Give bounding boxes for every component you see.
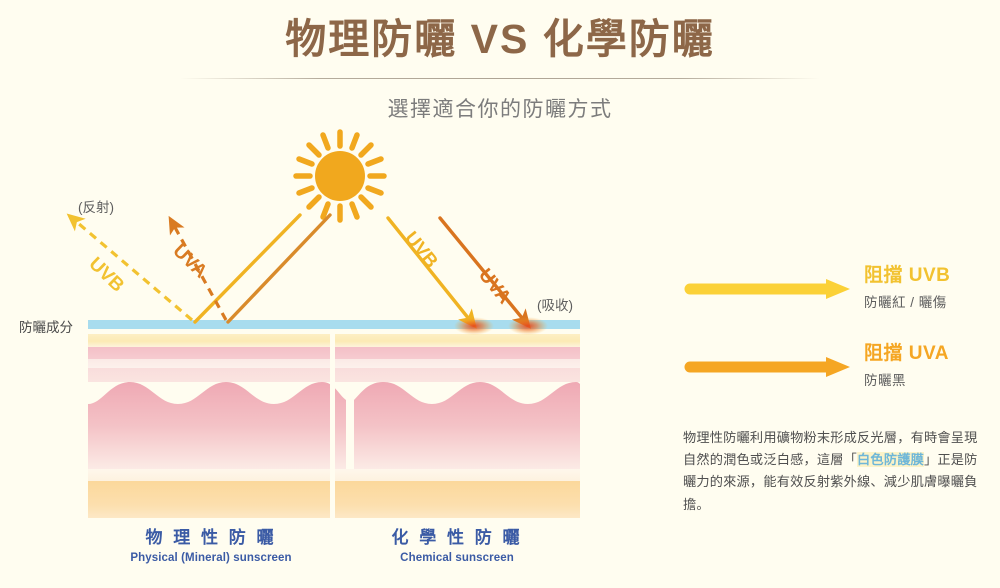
sun-icon — [288, 124, 392, 228]
legend-arrow-uvb — [684, 278, 852, 300]
ray-label-uva-left: UVA — [169, 240, 212, 282]
legend-text-uva: 阻擋 UVA 防曬黑 — [864, 342, 949, 389]
caption-physical-sunscreen: 物 理 性 防 曬 Physical (Mineral) sunscreen — [88, 523, 334, 564]
legend-arrow-uva — [684, 356, 852, 378]
ray-label-uvb-left: UVB — [85, 253, 128, 296]
sunscreen-layer-label: 防曬成分 — [19, 316, 73, 336]
legend: 阻擋 UVB 防曬紅 / 曬傷 阻擋 UVA 防曬黑 — [684, 262, 994, 400]
left-incoming-rays — [195, 215, 330, 322]
section-divider — [330, 329, 335, 518]
legend-subtitle-uva: 防曬黑 — [864, 369, 949, 389]
infographic-canvas: 物理防曬 VS 化學防曬 選擇適合你的防曬方式 — [0, 0, 1000, 588]
note-highlight: 白色防護膜 — [857, 452, 924, 467]
caption-chemical-en: Chemical sunscreen — [334, 552, 580, 564]
left-reflected-rays — [72, 218, 226, 320]
legend-title-uvb: 阻擋 UVB — [864, 264, 950, 289]
ray-label-uva-right: UVA — [474, 265, 515, 309]
caption-physical-zh: 物 理 性 防 曬 — [88, 523, 334, 548]
legend-subtitle-uvb: 防曬紅 / 曬傷 — [864, 291, 950, 311]
caption-chemical-sunscreen: 化 學 性 防 曬 Chemical sunscreen — [334, 523, 580, 564]
page-title: 物理防曬 VS 化學防曬 — [0, 14, 1000, 65]
legend-item-uva: 阻擋 UVA 防曬黑 — [684, 340, 994, 400]
legend-item-uvb: 阻擋 UVB 防曬紅 / 曬傷 — [684, 262, 994, 322]
caption-physical-en: Physical (Mineral) sunscreen — [88, 552, 334, 564]
caption-chemical-zh: 化 學 性 防 曬 — [334, 523, 580, 548]
note-open-bracket: 「 — [844, 452, 857, 467]
legend-title-uva: 阻擋 UVA — [864, 342, 949, 367]
explanatory-note: 物理性防曬利用礦物粉末形成反光層，有時會呈現自然的潤色或泛白感，這層「白色防護膜… — [683, 427, 983, 516]
page-subtitle: 選擇適合你的防曬方式 — [0, 93, 1000, 123]
title-divider — [180, 78, 820, 79]
ray-label-uvb-right: UVB — [400, 228, 442, 272]
ray-labels: UVB UVA UVB UVA — [85, 228, 515, 309]
absorb-label: (吸收) — [537, 294, 573, 314]
sunscreen-layer-band — [88, 320, 580, 329]
note-close-bracket: 」 — [924, 452, 937, 467]
right-absorbed-rays — [388, 218, 527, 324]
legend-text-uvb: 阻擋 UVB 防曬紅 / 曬傷 — [864, 264, 950, 311]
reflect-label: (反射) — [78, 196, 114, 216]
